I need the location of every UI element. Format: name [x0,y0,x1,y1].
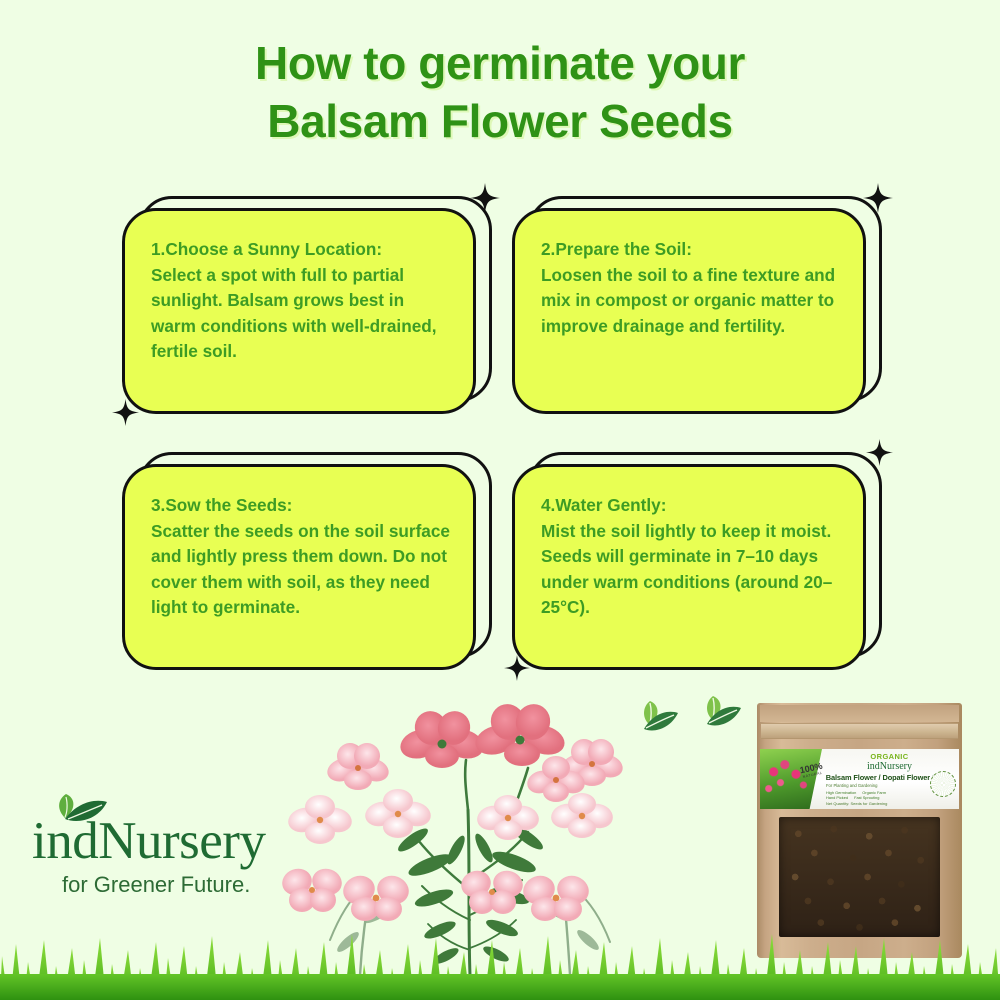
packet-label: 100% NATURAL ORGANIC indNursery Balsam F… [760,749,959,809]
card-text: 3.Sow the Seeds: Scatter the seeds on th… [151,493,451,621]
packet-organic-tag: ORGANIC [824,752,955,761]
logo-tagline: for Greener Future. [26,872,316,898]
card-text: 2.Prepare the Soil: Loosen the soil to a… [541,237,841,339]
grass-strip [0,922,1000,1000]
packet-ziplock [761,723,958,739]
sparkle-icon [112,399,139,431]
card-text: 1.Choose a Sunny Location: Select a spot… [151,237,451,365]
leaf-pair-icon [630,695,682,748]
sparkle-icon [866,439,893,471]
card-surface: 2.Prepare the Soil: Loosen the soil to a… [512,208,866,414]
card-surface: 4.Water Gently: Mist the soil lightly to… [512,464,866,670]
title-line-2: Balsam Flower Seeds [0,92,1000,150]
brand-logo: indNursery for Greener Future. [26,812,316,898]
card-text: 4.Water Gently: Mist the soil lightly to… [541,493,841,621]
sparkle-icon [863,183,893,218]
sparkle-icon [504,655,530,686]
packet-label-text: 100% NATURAL ORGANIC indNursery Balsam F… [822,749,959,809]
leaf-pair-icon [693,690,745,743]
packet-label-flower-photo [760,749,822,809]
packet-bullet: Fast Sprouting [854,795,879,800]
title-line-1: How to germinate your [0,34,1000,92]
sparkle-icon [470,183,500,218]
seed-packet-product-image: 100% NATURAL ORGANIC indNursery Balsam F… [757,703,962,958]
packet-seed-window [779,817,940,937]
packet-brand: indNursery [824,761,955,772]
infographic-canvas: How to germinate your Balsam Flower Seed… [0,0,1000,1000]
packet-feature-bullets: High Germination Organic Farm Hand Picke… [824,790,898,800]
packet-net-quantity: Net Quantity: Seeds for Gardening [826,801,887,806]
packet-seal-icon [930,771,956,797]
card-surface: 3.Sow the Seeds: Scatter the seeds on th… [122,464,476,670]
packet-top-fold [760,705,959,722]
packet-bullet: Hand Picked [826,795,848,800]
leaf-pair-icon [52,792,110,831]
card-surface: 1.Choose a Sunny Location: Select a spot… [122,208,476,414]
page-title: How to germinate your Balsam Flower Seed… [0,34,1000,150]
